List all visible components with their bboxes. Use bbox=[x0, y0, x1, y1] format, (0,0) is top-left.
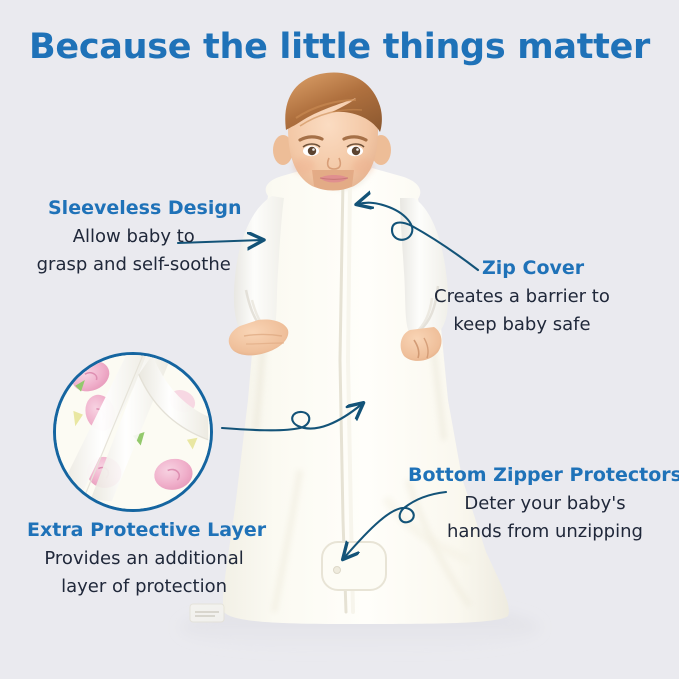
right-eye-highlight bbox=[356, 148, 359, 151]
care-tag bbox=[190, 604, 224, 622]
annotation-sleeveless-design: Sleeveless Design Allow baby to grasp an… bbox=[48, 198, 241, 277]
right-cheek bbox=[352, 158, 374, 174]
annotation-zip-cover: Zip Cover Creates a barrier to keep baby… bbox=[434, 258, 610, 337]
annotation-line-1: Deter your baby's bbox=[408, 493, 679, 516]
page-title: Because the little things matter bbox=[0, 27, 679, 67]
annotation-heading: Sleeveless Design bbox=[48, 198, 241, 220]
left-pupil bbox=[308, 147, 316, 155]
product-feature-infographic: Because the little things matter bbox=[0, 0, 679, 679]
annotation-extra-protective-layer: Extra Protective Layer Provides an addit… bbox=[22, 520, 266, 599]
left-eye-highlight bbox=[312, 148, 315, 151]
annotation-line-1: Provides an additional bbox=[22, 548, 266, 571]
annotation-line-2: layer of protection bbox=[22, 576, 266, 599]
left-cheek bbox=[293, 158, 315, 174]
annotation-heading: Extra Protective Layer bbox=[27, 520, 266, 542]
zipper-protector-snap bbox=[334, 567, 341, 574]
annotation-line-1: Allow baby to bbox=[26, 226, 241, 249]
fabric-closeup-art bbox=[56, 355, 210, 509]
annotation-line-2: keep baby safe bbox=[434, 314, 610, 337]
annotation-line-2: hands from unzipping bbox=[408, 521, 679, 544]
right-pupil bbox=[352, 147, 360, 155]
bottom-zipper-protector bbox=[322, 542, 386, 590]
fabric-closeup-circle bbox=[53, 352, 213, 512]
zipper-protector-tab bbox=[322, 542, 386, 590]
annotation-line-2: grasp and self-soothe bbox=[26, 254, 241, 277]
annotation-bottom-zipper-protectors: Bottom Zipper Protectors Deter your baby… bbox=[408, 465, 679, 544]
annotation-heading: Bottom Zipper Protectors bbox=[408, 465, 679, 487]
annotation-line-1: Creates a barrier to bbox=[434, 286, 610, 309]
annotation-heading: Zip Cover bbox=[482, 258, 610, 280]
